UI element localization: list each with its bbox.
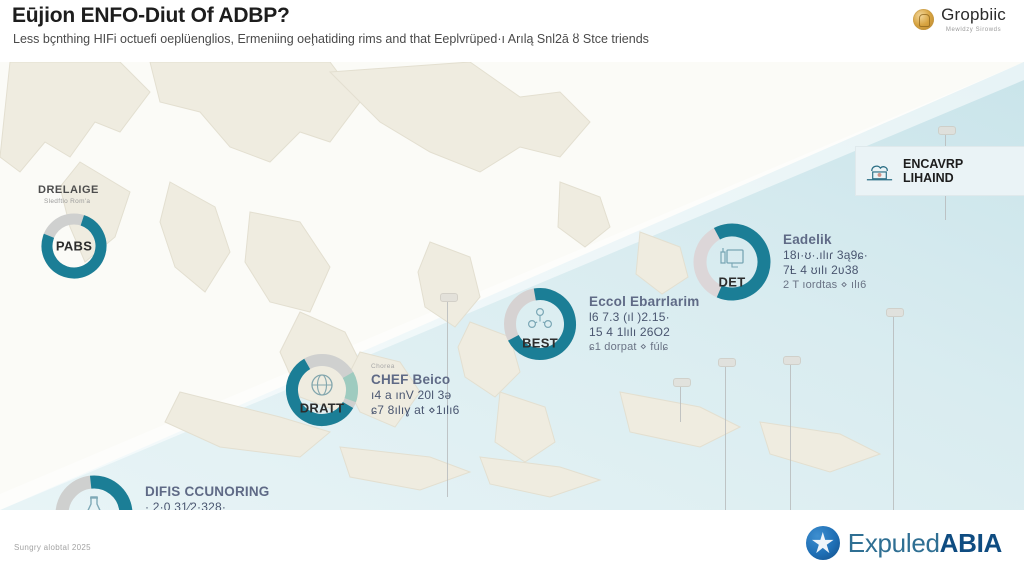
callout-text-dratt: Chorea CHEF Beico ı4 a ınV 20l 3ə ɕ7 8ıl… bbox=[371, 363, 460, 418]
source-note: Sungry alobtal 2025 bbox=[14, 543, 91, 552]
donut-label-best: BEST bbox=[500, 336, 580, 351]
callout-pabs[interactable]: PABS bbox=[38, 210, 110, 282]
callout-heading: CHEF Beico bbox=[371, 372, 460, 388]
cloud-factory-icon bbox=[863, 157, 896, 185]
region-label: DRELAIGE Sledftlo Rom'a bbox=[38, 184, 99, 205]
map-pin-cap bbox=[440, 293, 458, 302]
region-label-sub: Sledftlo Rom'a bbox=[44, 198, 99, 205]
callout-line-1: ı4 a ınV 20l 3ə bbox=[371, 388, 460, 403]
footer-brand[interactable]: ExpuledABIA bbox=[806, 526, 1002, 560]
callout-line-1: · 2·0 31⁄2·328· bbox=[145, 500, 270, 510]
footer: Sungry alobtal 2025 ExpuledABIA bbox=[0, 510, 1024, 576]
donut-label-dratt: DRATT bbox=[282, 400, 362, 415]
callout-eyebrow: Chorea bbox=[371, 363, 460, 371]
callout-line-3: 2 T ıordtas ⋄ ılı6 bbox=[783, 279, 868, 292]
page-subtitle: Less bçnthing HIFi octuefi oeplüenglios,… bbox=[13, 32, 649, 46]
highlight-banner-text: ENCAVRP LIHAIND bbox=[903, 157, 963, 185]
donut-label-pabs: PABS bbox=[38, 239, 110, 254]
map-pin-cap bbox=[783, 356, 801, 365]
banner-line-1: ENCAVRP bbox=[903, 157, 963, 171]
donut-chart-dratt: DRATT bbox=[282, 350, 362, 430]
header: Eūjion ENFO-Diut Of ADBP? Less bçnthing … bbox=[0, 0, 1024, 62]
callout-text-hbtt: DIFIS CCUNORING · 2·0 31⁄2·328· 3 1 ⅄ 2 … bbox=[145, 484, 270, 510]
flask-icon bbox=[79, 494, 109, 510]
map-pin-3 bbox=[790, 360, 791, 510]
region-label-name: DRELAIGE bbox=[38, 184, 99, 196]
footer-brand-wordmark: ExpuledABIA bbox=[848, 528, 1002, 559]
donut-chart-det: DET bbox=[690, 220, 774, 304]
page-title: Eūjion ENFO-Diut Of ADBP? bbox=[12, 4, 290, 28]
donut-chart-hbtt: HBTT bbox=[52, 472, 136, 510]
people-network-icon bbox=[524, 303, 556, 335]
header-brand[interactable]: Gropbiic Mewldzy Sirowds bbox=[913, 6, 1006, 33]
footer-brand-name-light: Expuled bbox=[848, 528, 940, 558]
callout-det[interactable]: DET Eadelik 18ı·ʊ·.ılıɾ 3ą9ɕ· 7Ƚ 4 ʊılı … bbox=[690, 220, 868, 304]
callout-best[interactable]: BEST Eccol Ebarrlarim l6 7.3 (ıl )2.15· … bbox=[500, 284, 700, 364]
highlight-banner[interactable]: ENCAVRP LIHAIND bbox=[855, 146, 1024, 196]
map-pin-4 bbox=[893, 312, 894, 510]
footer-brand-name-bold: ABIA bbox=[940, 528, 1002, 558]
monitor-lab-icon bbox=[715, 241, 749, 273]
banner-line-2: LIHAIND bbox=[903, 171, 963, 185]
callout-line-1: l6 7.3 (ıl )2.15· bbox=[589, 310, 700, 325]
infographic-poster: DRELAIGE Sledftlo Rom'a PABS bbox=[0, 0, 1024, 576]
map-canvas: DRELAIGE Sledftlo Rom'a PABS bbox=[0, 62, 1024, 510]
callout-hbtt[interactable]: HBTT DIFIS CCUNORING · 2·0 31⁄2·328· 3 1… bbox=[52, 472, 270, 510]
callout-dratt[interactable]: DRATT Chorea CHEF Beico ı4 a ınV 20l 3ə … bbox=[282, 350, 460, 430]
callout-line-2: 7Ƚ 4 ʊılı 2ʋ38 bbox=[783, 263, 868, 278]
header-brand-name: Gropbiic bbox=[941, 6, 1006, 23]
callout-line-3: ɕ1 dorpat ⋄ fúlɕ bbox=[589, 341, 700, 354]
globe-icon bbox=[307, 370, 337, 400]
callout-heading: DIFIS CCUNORING bbox=[145, 484, 270, 500]
blue-star-circle-icon bbox=[806, 526, 840, 560]
callout-heading: Eccol Ebarrlarim bbox=[589, 294, 700, 310]
callout-line-2: 15 4 1lılı 26O2 bbox=[589, 325, 700, 340]
donut-chart-pabs: PABS bbox=[38, 210, 110, 282]
map-pin-2 bbox=[725, 362, 726, 510]
callout-text-det: Eadelik 18ı·ʊ·.ılıɾ 3ą9ɕ· 7Ƚ 4 ʊılı 2ʋ38… bbox=[783, 232, 868, 292]
donut-label-det: DET bbox=[690, 275, 774, 290]
callout-line-2: ɕ7 8ılıɣ at ⋄1ılı6 bbox=[371, 403, 460, 418]
map-pin-cap bbox=[718, 358, 736, 367]
map-pin-cap bbox=[673, 378, 691, 387]
gold-emblem-icon bbox=[913, 9, 934, 30]
header-brand-tagline: Mewldzy Sirowds bbox=[941, 27, 1006, 33]
callout-line-1: 18ı·ʊ·.ılıɾ 3ą9ɕ· bbox=[783, 248, 868, 263]
callout-text-best: Eccol Ebarrlarim l6 7.3 (ıl )2.15· 15 4 … bbox=[589, 294, 700, 354]
donut-chart-best: BEST bbox=[500, 284, 580, 364]
map-pin-cap bbox=[886, 308, 904, 317]
callout-heading: Eadelik bbox=[783, 232, 868, 248]
map-pin-cap bbox=[938, 126, 956, 135]
map-pin-6 bbox=[680, 382, 681, 422]
